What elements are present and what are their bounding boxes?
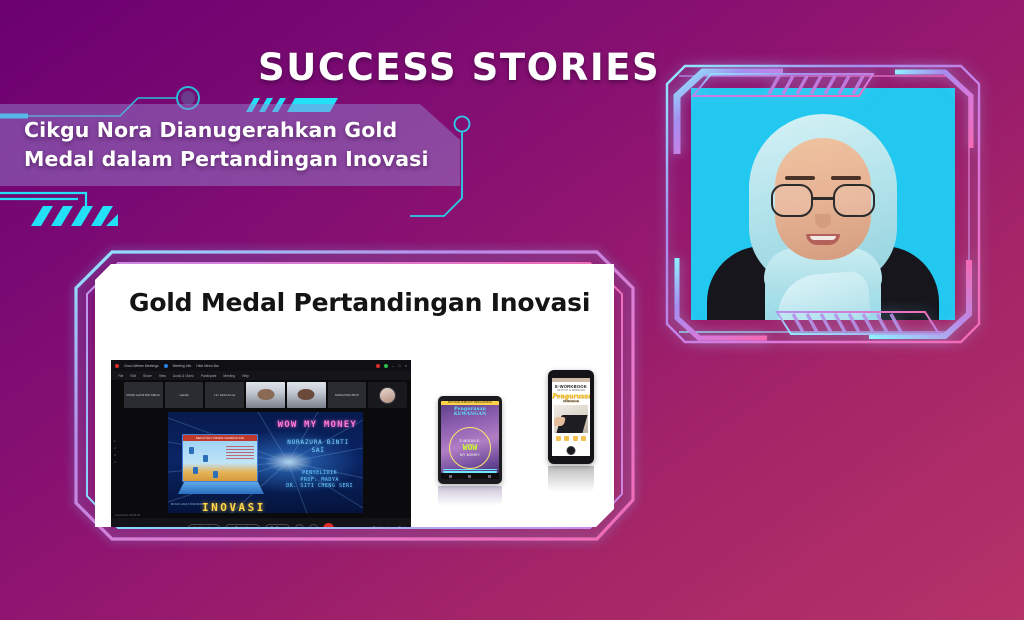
phone-script-text: Pengurusan (552, 393, 590, 400)
phone-screen: E-WORKBOOK AKTIVITI & PANDUAN Pengurusan… (552, 378, 590, 456)
meeting-menubar[interactable]: File Edit Share View Audio & Video Parti… (111, 371, 411, 380)
participant-filmstrip: MOHD HAFIZ BIN ABDUL nadirah Lim Saiful … (111, 380, 411, 410)
tablet-title-part2: KEWANGAN (454, 412, 487, 417)
start-video-label: Start video (235, 526, 251, 527)
end-meeting-button[interactable] (323, 523, 334, 528)
decor-slash-stripes-left (0, 186, 150, 232)
meeting-titlebar: Cisco Webex Meetings Meeting Info Hide M… (111, 360, 411, 371)
phone-mockup: E-WORKBOOK AKTIVITI & PANDUAN Pengurusan… (548, 370, 594, 464)
side-number: 1 (114, 438, 116, 445)
participant-tile[interactable] (368, 382, 407, 408)
menu-item-edit[interactable]: Edit (130, 374, 136, 378)
participant-video-icon (246, 382, 285, 408)
participant-tile[interactable] (246, 382, 285, 408)
avatar (379, 387, 396, 404)
minimize-button[interactable]: – (392, 363, 394, 368)
unmute-label: Unmute (199, 526, 211, 527)
tablet-mockup: MOTIVASI PUBLISITI PENGURUSAN Pengurusan… (438, 396, 502, 484)
phone-photo (554, 405, 588, 433)
chevron-down-icon[interactable]: ▾ (253, 526, 255, 527)
headline-banner: Cikgu Nora Dianugerahkan Gold Medal dala… (0, 104, 460, 186)
maximize-button[interactable]: □ (398, 363, 400, 368)
menu-item-view[interactable]: View (159, 374, 166, 378)
menu-item-meeting[interactable]: Meeting (223, 374, 235, 378)
more-options-button[interactable] (309, 524, 318, 528)
laptop-game-scene (183, 441, 257, 481)
meeting-window-screenshot: Cisco Webex Meetings Meeting Info Hide M… (111, 360, 411, 527)
menu-item-file[interactable]: File (118, 374, 123, 378)
side-number: 2 (114, 445, 116, 452)
camera-icon (230, 526, 234, 527)
tablet-title: Pengurusan KEWANGAN (441, 407, 499, 417)
content-card: Gold Medal Pertandingan Inovasi Cisco We… (72, 248, 637, 543)
participants-button[interactable]: Participants (373, 526, 391, 527)
microphone-icon (193, 526, 197, 527)
laptop-screen: SEDUTAN VIDEO GAMIFIKASI (182, 434, 258, 482)
meeting-toolbar: Unmute ▾ Start video ▾ Share Participant… (111, 518, 411, 527)
phone-script-title: Pengurusan KEWANGAN (552, 393, 590, 403)
slide-laptop-graphic: SEDUTAN VIDEO GAMIFIKASI (178, 434, 264, 500)
participant-tile[interactable] (287, 382, 326, 408)
presentation-slide: SEDUTAN VIDEO GAMIFIKASI WOW MY MONEY NO… (168, 412, 363, 516)
tablet-reflection (438, 486, 502, 506)
card-title: Gold Medal Pertandingan Inovasi (129, 288, 590, 317)
window-connected-icon (384, 364, 388, 368)
phone-mockup-wrap: E-WORKBOOK AKTIVITI & PANDUAN Pengurusan… (548, 370, 598, 500)
window-record-icon (376, 364, 380, 368)
phone-top-band (552, 378, 590, 382)
meeting-info-label: Meeting Info (173, 364, 192, 368)
side-number: 3 (114, 452, 116, 459)
tablet-navbar[interactable] (441, 473, 499, 479)
phone-icon-row (552, 436, 590, 441)
record-dot-icon (115, 364, 119, 368)
participant-tile[interactable]: nadirah (165, 382, 204, 408)
phone-reflection (548, 466, 594, 492)
hide-menu-label: Hide Menu Bar (196, 364, 219, 368)
info-dot-icon (164, 364, 168, 368)
portrait-neon-frame (663, 62, 983, 346)
page-title: SUCCESS STORIES (258, 46, 660, 89)
menu-item-participant[interactable]: Participant (201, 374, 217, 378)
record-button[interactable] (295, 524, 304, 528)
portrait-card (663, 62, 983, 346)
chat-button[interactable]: Chat (398, 526, 405, 527)
participant-tile[interactable]: NORAZURA BINTI (328, 382, 367, 408)
start-video-button[interactable]: Start video ▾ (225, 524, 260, 528)
slide-presenter-role: PENYELIDIK PROF. MADYA DR. SITI CHENG SE… (286, 470, 353, 490)
tablet-mymoney-label: MY MONEY (460, 453, 480, 457)
tablet-screen: MOTIVASI PUBLISITI PENGURUSAN Pengurusan… (441, 401, 499, 479)
slide-headline: WOW MY MONEY (278, 420, 357, 430)
slide-presenter-name: NORAZURA BINTI SAİ (287, 439, 349, 455)
participant-tile[interactable]: MOHD HAFIZ BIN ABDUL (124, 382, 163, 408)
share-label: Share (275, 526, 284, 527)
laptop-base (178, 482, 264, 494)
card-inner-surface: Gold Medal Pertandingan Inovasi Cisco We… (95, 264, 614, 527)
close-button[interactable]: × (405, 363, 407, 368)
menu-item-share[interactable]: Share (143, 374, 152, 378)
share-screen-icon (270, 526, 274, 527)
share-button[interactable]: Share (265, 524, 290, 528)
side-number: 4 (114, 459, 116, 466)
meeting-side-numbers: 1 2 3 4 (114, 438, 116, 466)
phone-script-sub: KEWANGAN (552, 400, 590, 403)
tablet-circle-badge: E-MODULE: WOW MY MONEY (449, 427, 491, 469)
headline-line-1: Cikgu Nora Dianugerahkan Gold (24, 116, 460, 145)
menu-item-audio-video[interactable]: Audio & Video (173, 374, 194, 378)
tablet-mockup-wrap: MOTIVASI PUBLISITI PENGURUSAN Pengurusan… (432, 382, 508, 510)
unmute-button[interactable]: Unmute ▾ (188, 524, 219, 528)
slide-credit: MOHD HAFIZ RIDZWAN (171, 503, 203, 506)
menu-item-help[interactable]: Help (242, 374, 249, 378)
chevron-down-icon[interactable]: ▾ (213, 526, 215, 527)
hand-writing-icon (556, 415, 587, 433)
participant-tile[interactable]: Lim Saiful Anuar (205, 382, 244, 408)
tablet-wow-label: WOW (463, 444, 477, 452)
participant-video-icon (287, 382, 326, 408)
home-button-icon[interactable] (567, 446, 576, 455)
toolbar-right-group: Participants Chat (373, 526, 405, 527)
meeting-app-name: Cisco Webex Meetings (124, 364, 159, 368)
window-controls[interactable]: – □ × (376, 363, 407, 368)
tablet-banner: MOTIVASI PUBLISITI PENGURUSAN (441, 401, 499, 405)
phone-subtitle: AKTIVITI & PANDUAN (552, 389, 590, 392)
headline-line-2: Medal dalam Pertandingan Inovasi (24, 145, 460, 174)
